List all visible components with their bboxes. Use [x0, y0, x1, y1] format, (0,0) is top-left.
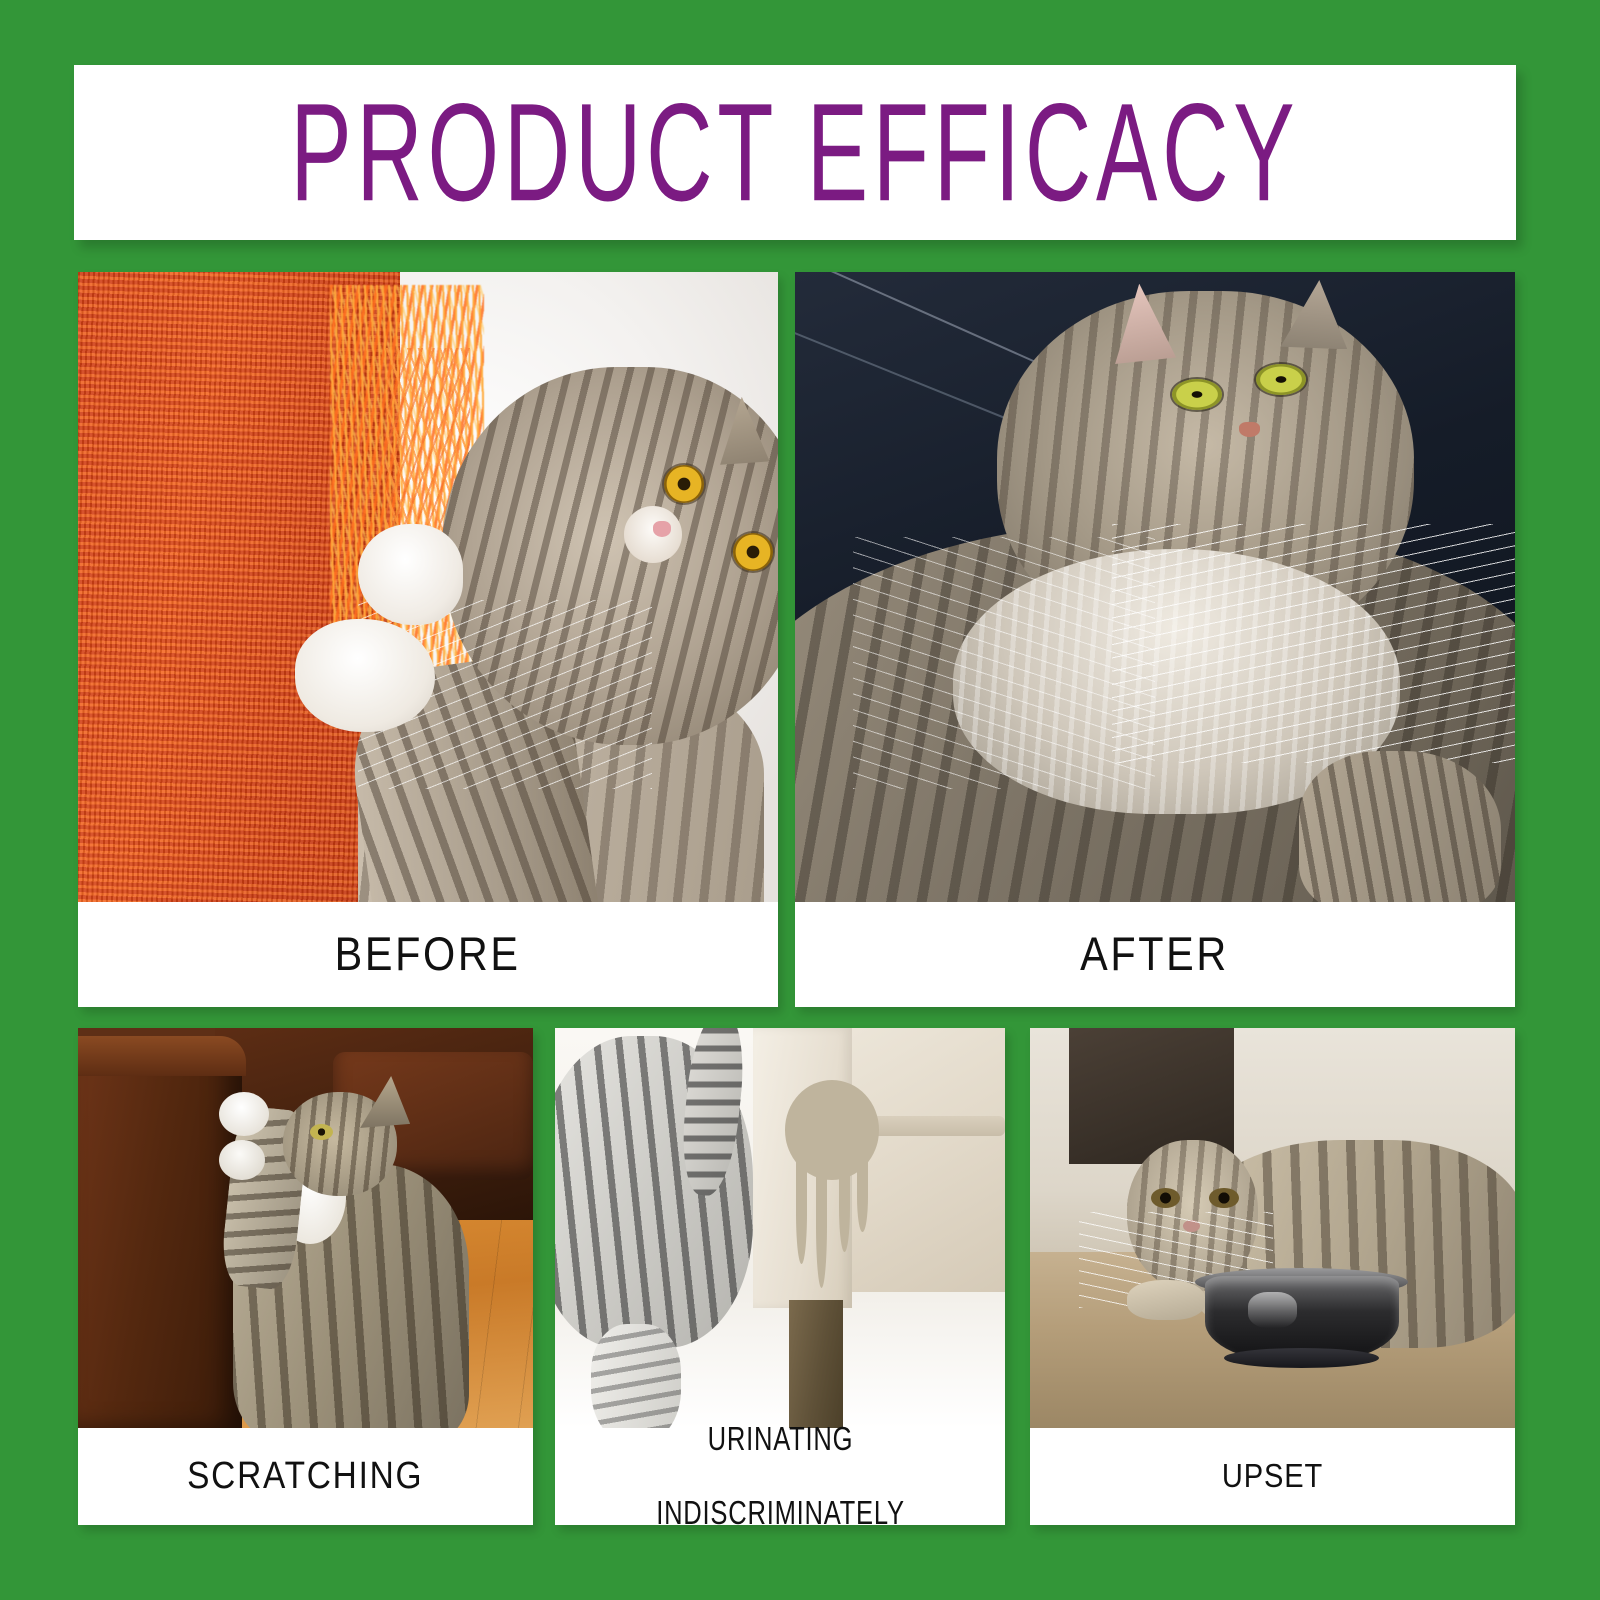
symptom-card-urinating[interactable]: URINATING INDISCRIMINATELY — [555, 1028, 1005, 1525]
food-bowl-highlight — [1248, 1292, 1297, 1328]
comparison-card-after[interactable]: AFTER — [795, 272, 1515, 1007]
after-caption: AFTER — [795, 902, 1515, 1007]
cat-eye-left — [664, 465, 704, 503]
cat-whiskers-left — [853, 537, 1155, 789]
cat-nose — [1239, 422, 1260, 437]
page-title: PRODUCT EFFICACY — [290, 83, 1299, 222]
cat-paw-upper — [219, 1092, 269, 1136]
couch-arm-top — [78, 1036, 246, 1076]
symptom-card-upset[interactable]: UPSET — [1030, 1028, 1515, 1525]
scratching-caption-label: SCRATCHING — [187, 1455, 423, 1498]
urinating-caption: URINATING INDISCRIMINATELY — [555, 1428, 1005, 1525]
upset-photo — [1030, 1028, 1515, 1428]
upset-caption: UPSET — [1030, 1428, 1515, 1525]
scratching-caption: SCRATCHING — [78, 1428, 533, 1525]
after-caption-label: AFTER — [1081, 928, 1230, 981]
urine-drip — [796, 1160, 807, 1264]
cat-paw-upper — [358, 524, 463, 625]
cat-nose — [653, 521, 671, 536]
before-caption: BEFORE — [78, 902, 778, 1007]
sofa-leg — [789, 1300, 843, 1428]
cat-muzzle — [624, 506, 682, 563]
comparison-card-before[interactable]: BEFORE — [78, 272, 778, 1007]
page-title-banner: PRODUCT EFFICACY — [74, 65, 1516, 240]
cat-eye-right — [1256, 364, 1306, 395]
urinating-photo — [555, 1028, 1005, 1428]
cat-paw — [1299, 751, 1501, 902]
after-photo — [795, 272, 1515, 902]
symptom-card-scratching[interactable]: SCRATCHING — [78, 1028, 533, 1525]
cat-eye — [310, 1124, 333, 1140]
cat-hind-leg — [591, 1324, 681, 1428]
before-photo — [78, 272, 778, 902]
urinating-caption-line-2: INDISCRIMINATELY — [656, 1495, 905, 1525]
urinating-caption-line-1: URINATING — [656, 1421, 905, 1458]
food-bowl-base — [1224, 1348, 1379, 1368]
cat-whiskers-right — [1112, 524, 1515, 763]
urine-drip — [839, 1160, 850, 1252]
before-caption-label: BEFORE — [335, 928, 521, 981]
cat-paw — [1127, 1280, 1205, 1320]
cat-eye-left — [1172, 379, 1222, 410]
cat-paw-lower — [295, 619, 435, 732]
upset-caption-label: UPSET — [1222, 1458, 1323, 1495]
cat-eye-right — [733, 533, 773, 571]
scratching-photo — [78, 1028, 533, 1428]
couch-arm — [78, 1040, 242, 1428]
cat-paw-lower — [219, 1140, 265, 1180]
cat-eye-right — [1209, 1188, 1238, 1208]
urine-drip — [857, 1160, 868, 1232]
urinating-caption-label: URINATING INDISCRIMINATELY — [639, 1421, 921, 1525]
